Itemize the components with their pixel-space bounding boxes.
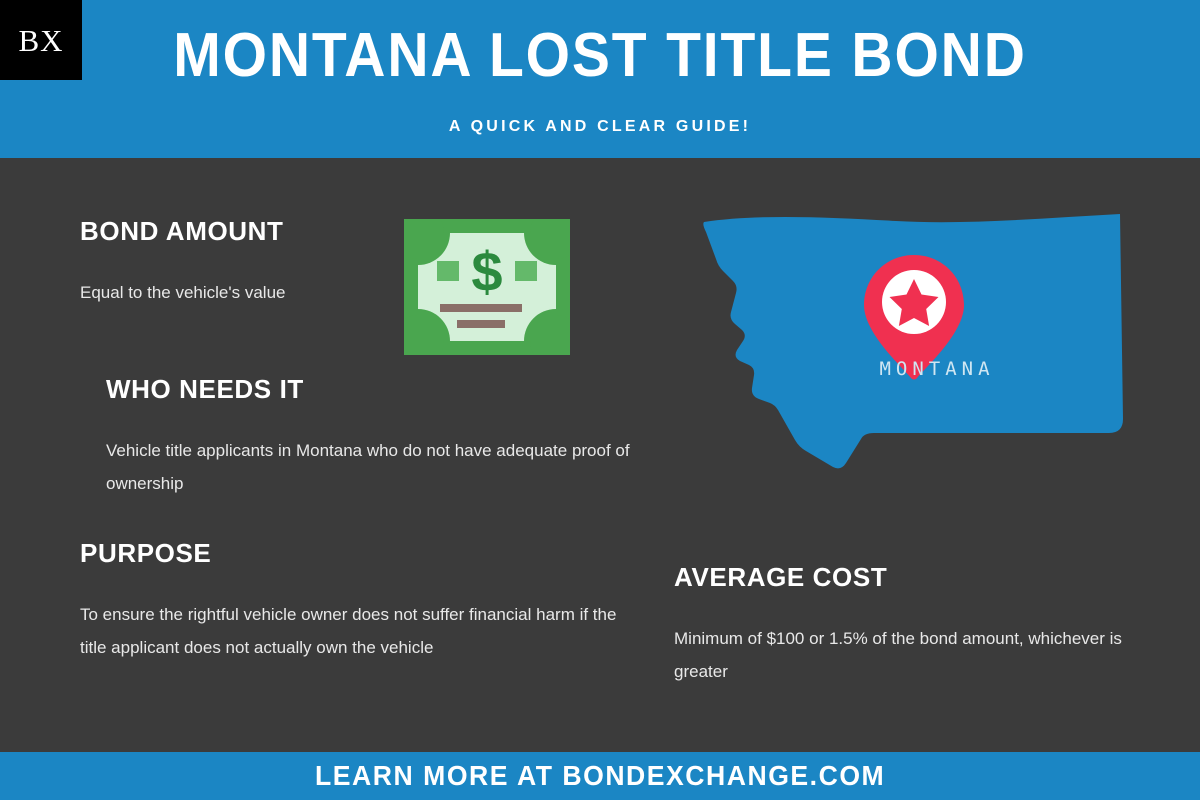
section-body-who-needs-it: Vehicle title applicants in Montana who …: [106, 434, 676, 500]
section-body-average-cost: Minimum of $100 or 1.5% of the bond amou…: [674, 622, 1134, 688]
section-purpose: PURPOSE To ensure the rightful vehicle o…: [80, 538, 620, 664]
money-dollar-symbol: $: [471, 240, 502, 303]
section-body-purpose: To ensure the rightful vehicle owner doe…: [80, 598, 620, 664]
section-heading-average-cost: AVERAGE COST: [674, 562, 1134, 592]
section-body-bond-amount: Equal to the vehicle's value: [80, 276, 380, 309]
section-heading-purpose: PURPOSE: [80, 538, 620, 568]
header-banner: BX MONTANA LOST TITLE BOND A QUICK AND C…: [0, 0, 1200, 158]
infographic-canvas: BX MONTANA LOST TITLE BOND A QUICK AND C…: [0, 0, 1200, 800]
footer-banner[interactable]: LEARN MORE AT BONDEXCHANGE.COM: [0, 752, 1200, 800]
map-state-label: MONTANA: [696, 358, 1136, 380]
footer-cta-text: LEARN MORE AT BONDEXCHANGE.COM: [315, 760, 885, 792]
section-average-cost: AVERAGE COST Minimum of $100 or 1.5% of …: [674, 562, 1134, 688]
section-heading-who-needs-it: WHO NEEDS IT: [106, 374, 676, 404]
section-bond-amount: BOND AMOUNT Equal to the vehicle's value: [80, 216, 380, 309]
page-subtitle: A QUICK AND CLEAR GUIDE!: [0, 118, 1200, 136]
section-who-needs-it: WHO NEEDS IT Vehicle title applicants in…: [106, 374, 676, 500]
section-heading-bond-amount: BOND AMOUNT: [80, 216, 380, 246]
montana-map-graphic: MONTANA: [696, 205, 1136, 485]
money-bill-icon: $: [404, 219, 570, 355]
page-title: MONTANA LOST TITLE BOND: [48, 20, 1152, 92]
